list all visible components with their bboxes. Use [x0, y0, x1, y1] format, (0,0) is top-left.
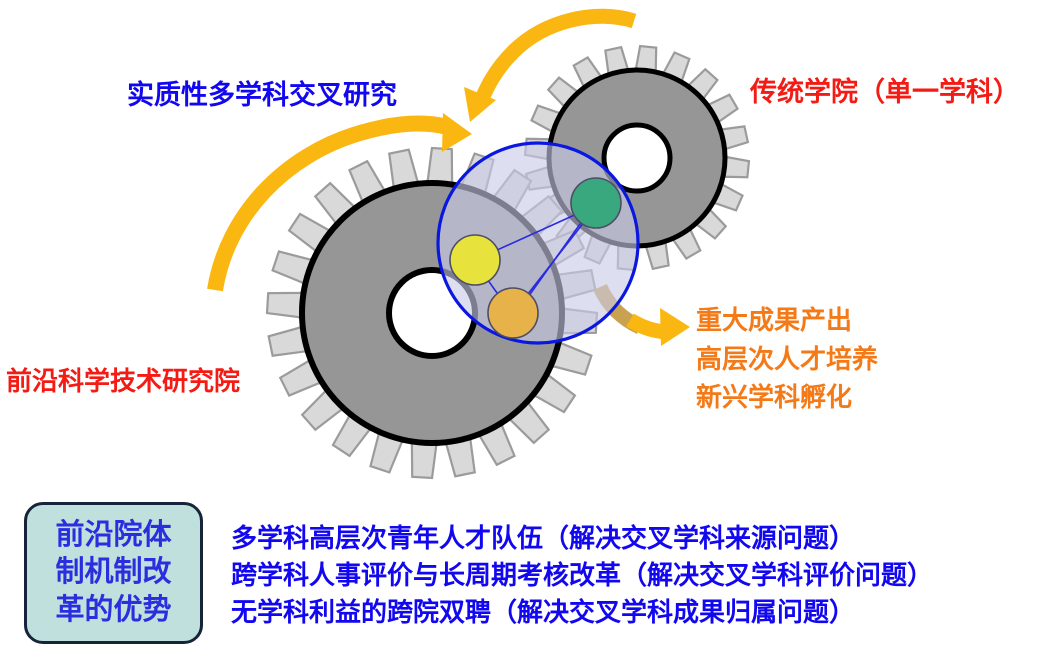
bullet-item: 无学科利益的跨院双聘（解决交叉学科成果归属问题） [231, 594, 1031, 631]
diagram-canvas: 实质性多学科交叉研究 传统学院（单一学科） 前沿科学技术研究院 重大成果产出 高… [0, 0, 1038, 669]
bullet-item: 跨学科人事评价与长周期考核改革（解决交叉学科评价问题） [231, 557, 1031, 594]
green-node-icon [571, 178, 621, 228]
orange-node-icon [488, 288, 538, 338]
advantage-line: 制机制改 [55, 554, 171, 591]
bullet-item: 多学科高层次青年人才队伍（解决交叉学科来源问题） [231, 520, 1031, 557]
advantage-line: 前沿院体 [55, 517, 171, 554]
outcome-item: 新兴学科孵化 [696, 382, 878, 413]
label-traditional-college: 传统学院（单一学科） [750, 77, 1020, 109]
outcomes-list: 重大成果产出 高层次人才培养 新兴学科孵化 [696, 305, 878, 413]
advantage-bullet-list: 多学科高层次青年人才队伍（解决交叉学科来源问题） 跨学科人事评价与长周期考核改革… [231, 520, 1031, 631]
outcome-item: 高层次人才培养 [696, 344, 878, 375]
label-interdisciplinary-research: 实质性多学科交叉研究 [127, 80, 397, 112]
advantage-callout-box: 前沿院体 制机制改 革的优势 [24, 502, 203, 644]
outcome-item: 重大成果产出 [696, 305, 878, 336]
yellow-node-icon [450, 235, 500, 285]
label-frontier-institute: 前沿科学技术研究院 [6, 366, 240, 397]
advantage-line: 革的优势 [55, 592, 171, 629]
